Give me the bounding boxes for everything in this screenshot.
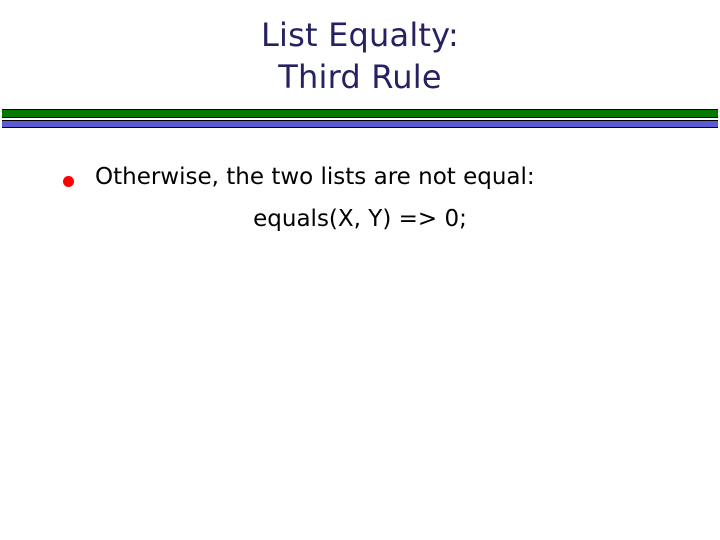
slide-canvas: List Equalty: Third Rule Otherwise, the … (0, 0, 720, 540)
bullet-item-label: Otherwise, the two lists are not equal: (95, 160, 720, 194)
code-snippet-line: equals(X, Y) => 0; (0, 203, 720, 235)
title-divider (2, 109, 718, 128)
slide-body: Otherwise, the two lists are not equal: … (0, 160, 720, 235)
divider-bar-green (2, 109, 718, 118)
list-item: Otherwise, the two lists are not equal: (0, 160, 720, 194)
bullet-dot-icon (63, 176, 74, 187)
page-title: List Equalty: Third Rule (0, 14, 720, 98)
title-line-2: Third Rule (0, 56, 720, 98)
title-line-1: List Equalty: (0, 14, 720, 56)
divider-bar-blue (2, 120, 718, 128)
